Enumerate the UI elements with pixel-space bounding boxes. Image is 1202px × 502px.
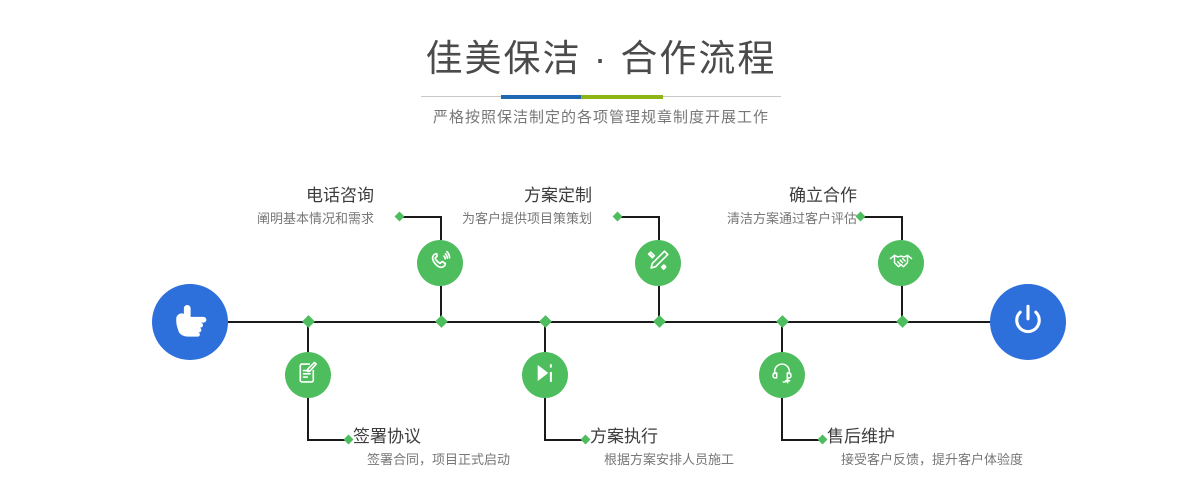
step-label-6: 售后维护 接受客户反馈，提升客户体验度 [827, 427, 1023, 469]
phone-call-icon [427, 248, 453, 279]
axis-marker-1 [435, 315, 448, 328]
axis-marker-5 [896, 315, 909, 328]
connector-elbow-3 [618, 216, 660, 218]
document-sign-icon [295, 360, 321, 391]
step-desc-5: 清洁方案通过客户评估 [727, 210, 857, 228]
step-title-6: 售后维护 [827, 427, 1023, 447]
pencil-ruler-icon [645, 248, 671, 279]
step-desc-2: 签署合同，项目正式启动 [367, 451, 510, 469]
label-marker-3 [613, 212, 623, 222]
step-title-2: 签署协议 [353, 427, 510, 447]
step-node-2[interactable] [285, 352, 331, 398]
connector-stem-2b [307, 398, 309, 440]
handshake-icon [888, 248, 914, 279]
axis-marker-4 [539, 315, 552, 328]
step-label-4: 方案执行 根据方案安排人员施工 [590, 427, 734, 469]
play-execute-icon [532, 360, 558, 391]
headset-support-icon [769, 360, 795, 391]
label-marker-2 [344, 435, 354, 445]
step-node-5[interactable] [878, 240, 924, 286]
connector-stem-3 [658, 216, 660, 240]
axis-marker-3 [653, 315, 666, 328]
step-desc-4: 根据方案安排人员施工 [604, 451, 734, 469]
step-label-3: 方案定制 为客户提供项目策策划 [462, 186, 592, 228]
step-node-4[interactable] [522, 352, 568, 398]
step-node-1[interactable] [417, 240, 463, 286]
connector-stem-5 [901, 216, 903, 240]
connector-stem-1 [440, 216, 442, 240]
step-desc-1: 阐明基本情况和需求 [257, 210, 374, 228]
axis-marker-6 [776, 315, 789, 328]
step-desc-3: 为客户提供项目策策划 [462, 210, 592, 228]
label-marker-6 [818, 435, 828, 445]
connector-elbow-1 [400, 216, 442, 218]
label-marker-5 [856, 212, 866, 222]
flow-start-node [152, 284, 228, 360]
step-title-1: 电话咨询 [257, 186, 374, 206]
step-title-5: 确立合作 [727, 186, 857, 206]
axis-marker-2 [302, 315, 315, 328]
flow-end-node [990, 284, 1066, 360]
connector-stem-4b [544, 398, 546, 440]
step-node-6[interactable] [759, 352, 805, 398]
process-flow-diagram: 电话咨询 阐明基本情况和需求 签署协议 签署合同，项目正式启动 [0, 0, 1202, 502]
step-title-3: 方案定制 [462, 186, 592, 206]
label-marker-4 [581, 435, 591, 445]
label-marker-1 [395, 212, 405, 222]
pointing-hand-icon [170, 300, 210, 345]
connector-stem-6b [781, 398, 783, 440]
step-label-2: 签署协议 签署合同，项目正式启动 [353, 427, 510, 469]
step-title-4: 方案执行 [590, 427, 734, 447]
step-label-5: 确立合作 清洁方案通过客户评估 [727, 186, 857, 228]
step-label-1: 电话咨询 阐明基本情况和需求 [257, 186, 374, 228]
step-node-3[interactable] [635, 240, 681, 286]
step-desc-6: 接受客户反馈，提升客户体验度 [841, 451, 1023, 469]
connector-elbow-5 [861, 216, 903, 218]
power-button-icon [1008, 300, 1048, 345]
